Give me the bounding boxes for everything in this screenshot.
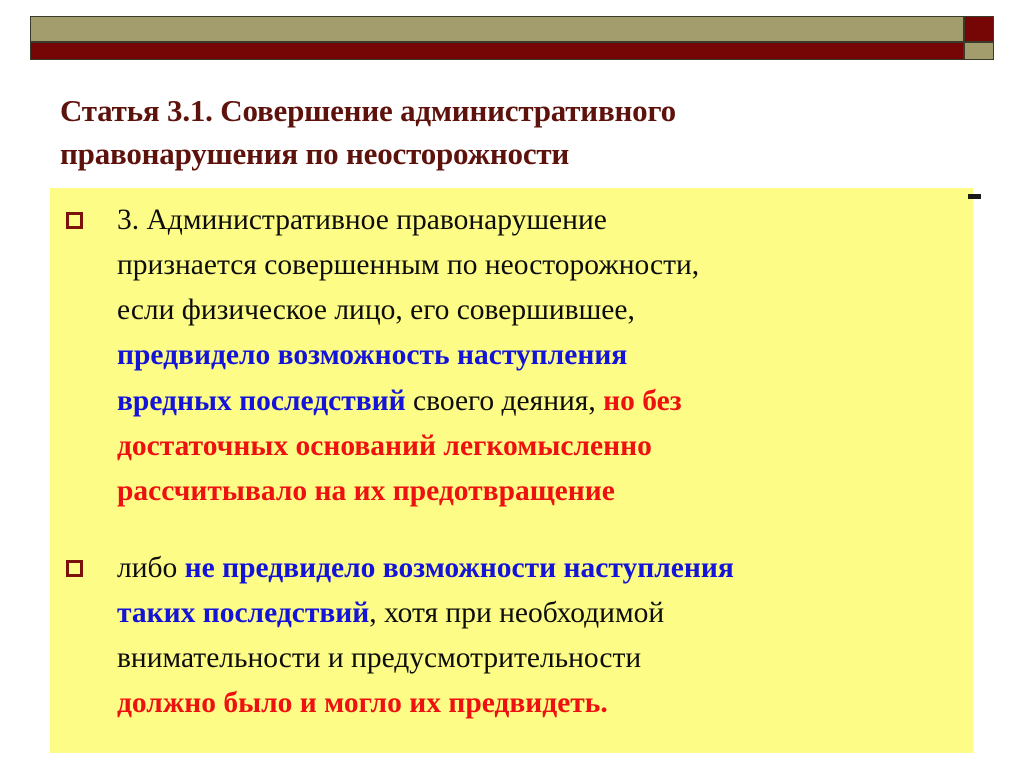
header-decoration [30, 16, 994, 60]
header-bar-maroon [30, 42, 964, 60]
text-line: внимательности и предусмотрительности [117, 636, 956, 681]
page-title: Статья 3.1. Совершение административного… [60, 90, 960, 176]
text-run: достаточных оснований легкомысленно [117, 430, 652, 462]
page-title-line-1: Статья 3.1. Совершение административного [60, 90, 960, 133]
text-line: должно было и могло их предвидеть. [117, 681, 956, 726]
text-line: предвидело возможность наступления [117, 333, 956, 378]
page-title-line-2: правонарушения по неосторожности [60, 133, 960, 176]
list-item: 3. Административное правонарушениепризна… [66, 198, 956, 514]
list-item: либо не предвидело возможности наступлен… [66, 546, 956, 727]
text-run: , хотя при необходимой [369, 597, 664, 629]
text-line: если физическое лицо, его совершившее, [117, 288, 956, 333]
text-run: таких последствий [117, 597, 369, 629]
content-panel: 3. Административное правонарушениепризна… [50, 188, 973, 753]
stray-dash-mark [968, 194, 981, 199]
text-line: признается совершенным по неосторожности… [117, 243, 956, 288]
header-accent-block-olive [964, 42, 994, 60]
header-accent-block-maroon [964, 16, 994, 42]
text-run: не предвидело возможности наступления [185, 552, 734, 584]
text-run: должно было и могло их предвидеть. [117, 687, 608, 719]
text-line: достаточных оснований легкомысленно [117, 424, 956, 469]
text-line: вредных последствий своего деяния, но бе… [117, 379, 956, 424]
text-run: предвидело возможность наступления [117, 339, 627, 371]
text-run: признается совершенным по неосторожности… [117, 249, 699, 281]
list-item-text: либо не предвидело возможности наступлен… [83, 546, 956, 727]
text-run: внимательности и предусмотрительности [117, 642, 641, 674]
text-run: либо [117, 552, 185, 584]
hollow-square-bullet-icon [66, 560, 83, 577]
text-run: своего деяния, [406, 385, 603, 417]
text-run: 3. Административное правонарушение [117, 204, 607, 236]
text-line: 3. Административное правонарушение [117, 198, 956, 243]
header-bar-olive [30, 16, 964, 42]
text-run: рассчитывало на их предотвращение [117, 475, 615, 507]
text-line: рассчитывало на их предотвращение [117, 469, 956, 514]
text-line: таких последствий, хотя при необходимой [117, 591, 956, 636]
hollow-square-bullet-icon [66, 212, 83, 229]
text-line: либо не предвидело возможности наступлен… [117, 546, 956, 591]
text-run: вредных последствий [117, 385, 406, 417]
text-run: если физическое лицо, его совершившее, [117, 294, 635, 326]
list-item-text: 3. Административное правонарушениепризна… [83, 198, 956, 514]
text-run: но без [603, 385, 681, 417]
